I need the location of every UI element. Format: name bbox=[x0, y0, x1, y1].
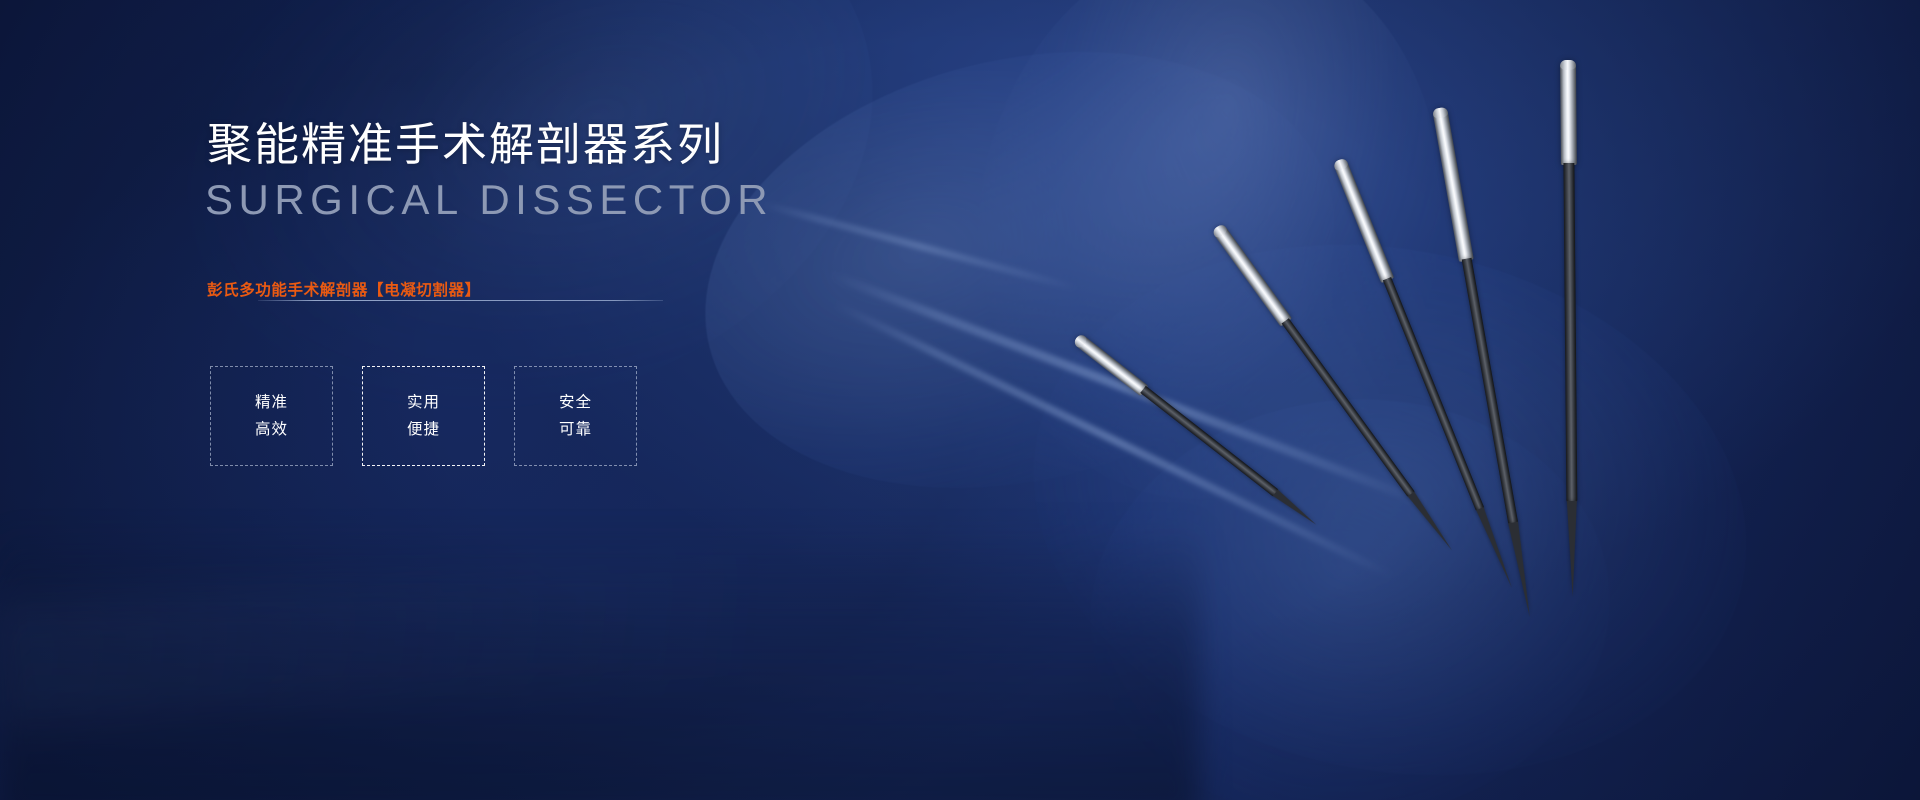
feature-box-precision-line2: 高效 bbox=[255, 416, 288, 443]
instrument-metal-handle bbox=[1211, 223, 1292, 327]
title-divider bbox=[258, 300, 663, 301]
feature-box-safety-line1: 安全 bbox=[559, 389, 592, 416]
instrument-shaft bbox=[1140, 386, 1280, 498]
instrument-metal-handle bbox=[1072, 333, 1148, 396]
instrument-shaft bbox=[1282, 318, 1416, 498]
page-title: 聚能精准手术解剖器系列 bbox=[207, 119, 724, 171]
feature-box-safety: 安全 可靠 bbox=[514, 366, 637, 466]
feature-box-practical-line2: 便捷 bbox=[407, 416, 440, 443]
product-name-label: 彭氏多功能手术解剖器【电凝切割器】 bbox=[207, 278, 481, 300]
feature-box-practical-line1: 实用 bbox=[407, 389, 440, 416]
instrument-metal-handle bbox=[1333, 157, 1395, 283]
page-subtitle-english: SURGICAL DISSECTOR bbox=[205, 175, 773, 225]
product-instrument-group bbox=[960, 0, 1920, 800]
surgical-dissector-4 bbox=[1432, 107, 1447, 110]
instrument-shaft bbox=[1563, 163, 1577, 503]
instrument-metal-handle bbox=[1560, 60, 1577, 165]
instrument-tip bbox=[1408, 492, 1456, 553]
hero-text-block: 聚能精准手术解剖器系列 SURGICAL DISSECTOR 彭氏多功能手术解剖… bbox=[0, 0, 860, 800]
feature-box-practical: 实用 便捷 bbox=[362, 366, 485, 466]
surgical-dissector-2 bbox=[1211, 223, 1222, 231]
feature-box-group: 精准 高效 实用 便捷 安全 可靠 bbox=[210, 366, 637, 466]
instrument-tip bbox=[1567, 501, 1578, 597]
instrument-tip bbox=[1508, 522, 1535, 618]
feature-box-precision: 精准 高效 bbox=[210, 366, 333, 466]
surgical-dissector-3 bbox=[1333, 157, 1346, 162]
surgical-dissector-1 bbox=[1072, 333, 1080, 343]
feature-box-safety-line2: 可靠 bbox=[559, 416, 592, 443]
instrument-metal-handle bbox=[1432, 107, 1474, 262]
instrument-tip bbox=[1273, 490, 1319, 528]
feature-box-precision-line1: 精准 bbox=[255, 389, 288, 416]
product-hero-banner: 聚能精准手术解剖器系列 SURGICAL DISSECTOR 彭氏多功能手术解剖… bbox=[0, 0, 1920, 800]
